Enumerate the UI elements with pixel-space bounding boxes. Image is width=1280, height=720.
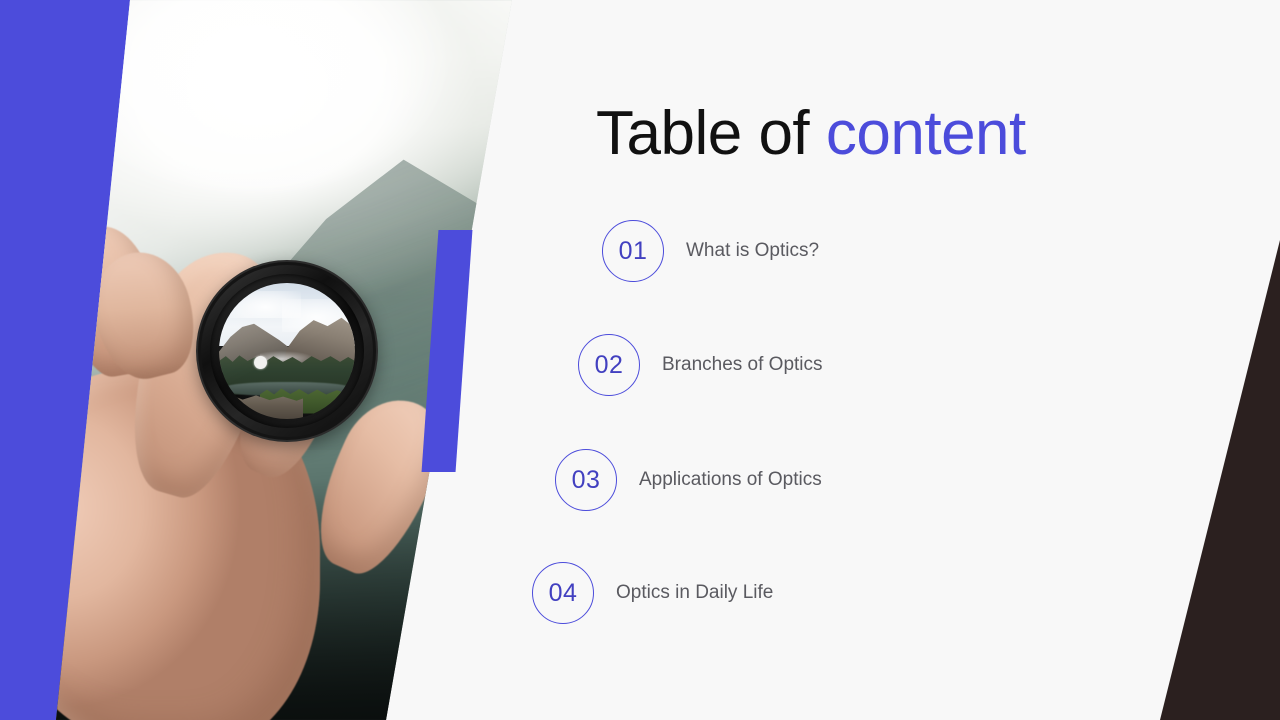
- toc-number-badge-1: 01: [602, 220, 664, 282]
- toc-label-2: Branches of Optics: [662, 354, 823, 376]
- toc-item-3[interactable]: 03 Applications of Optics: [555, 449, 822, 511]
- lens-glass-scene: [219, 283, 355, 419]
- toc-label-3: Applications of Optics: [639, 469, 822, 491]
- page-title: Table of content: [596, 98, 1026, 169]
- page-title-accent: content: [826, 99, 1026, 168]
- toc-label-4: Optics in Daily Life: [616, 582, 773, 604]
- toc-number-badge-3: 03: [555, 449, 617, 511]
- toc-number-badge-2: 02: [578, 334, 640, 396]
- content-column: Table of content 01 What is Optics? 02 B…: [520, 0, 1280, 720]
- toc-item-4[interactable]: 04 Optics in Daily Life: [532, 562, 773, 624]
- toc-item-2[interactable]: 02 Branches of Optics: [578, 334, 823, 396]
- toc-item-1[interactable]: 01 What is Optics?: [602, 220, 819, 282]
- toc-number-badge-4: 04: [532, 562, 594, 624]
- toc-label-1: What is Optics?: [686, 240, 819, 262]
- camera-lens-filter: [198, 262, 376, 440]
- page-title-primary: Table of: [596, 99, 809, 168]
- slide-root: Table of content 01 What is Optics? 02 B…: [0, 0, 1280, 720]
